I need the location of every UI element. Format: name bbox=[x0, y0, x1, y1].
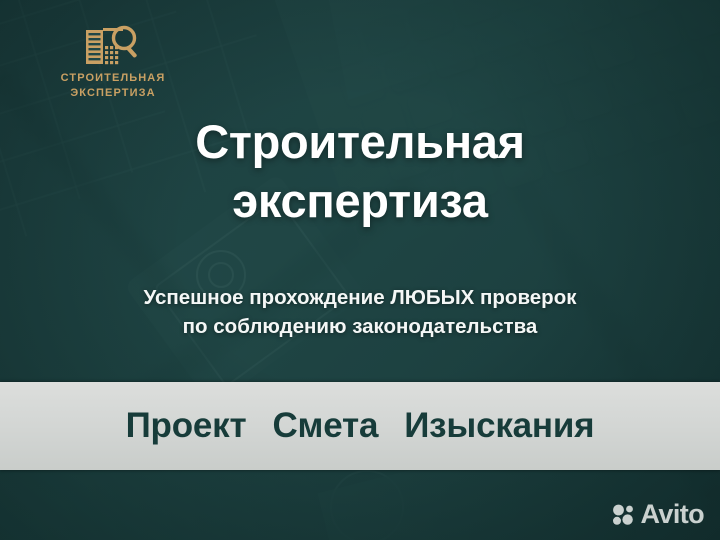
page-title: Строительная экспертиза bbox=[0, 112, 720, 230]
services-list: Проект Смета Изыскания bbox=[126, 406, 595, 446]
services-band: Проект Смета Изыскания bbox=[0, 382, 720, 470]
brand-logo: СТРОИТЕЛЬНАЯ ЭКСПЕРТИЗА bbox=[42, 24, 184, 101]
service-item-smeta: Смета bbox=[272, 406, 378, 446]
promo-banner: СТРОИТЕЛЬНАЯ ЭКСПЕРТИЗА Строительная экс… bbox=[0, 0, 720, 540]
page-subtitle: Успешное прохождение ЛЮБЫХ проверок по с… bbox=[0, 283, 720, 341]
building-magnifier-icon bbox=[84, 24, 142, 66]
service-item-izyskaniya: Изыскания bbox=[404, 406, 594, 446]
service-item-proekt: Проект bbox=[126, 406, 247, 446]
avito-dots-icon bbox=[611, 504, 637, 526]
avito-watermark: Avito bbox=[611, 501, 705, 528]
logo-wordmark: СТРОИТЕЛЬНАЯ ЭКСПЕРТИЗА bbox=[42, 71, 184, 101]
avito-wordmark: Avito bbox=[641, 501, 705, 528]
